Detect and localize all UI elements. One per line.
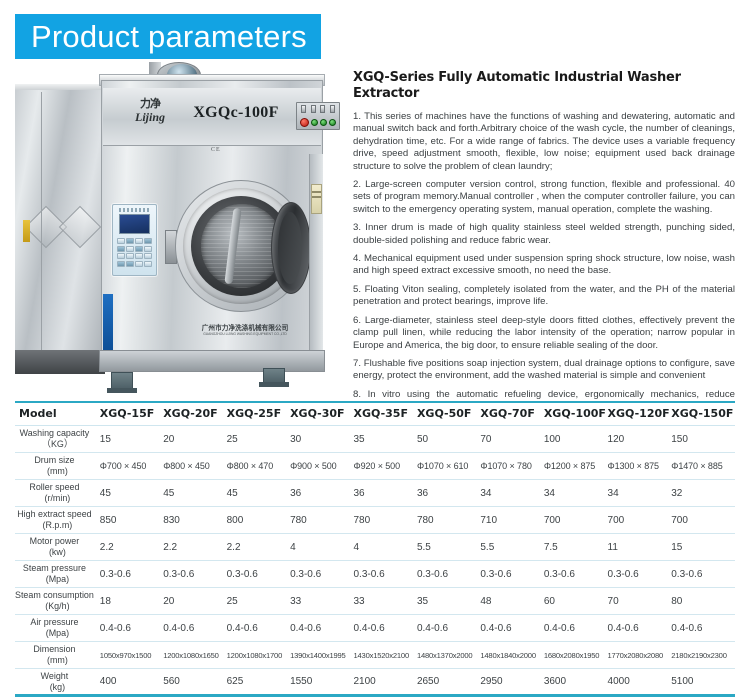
table-cell: 35 — [417, 588, 480, 615]
row-label-unit: (mm) — [18, 466, 97, 477]
control-panel-title-strip — [119, 208, 151, 212]
table-cell: 0.4-0.6 — [163, 615, 226, 642]
table-cell: 5.5 — [480, 534, 543, 561]
table-cell: 780 — [417, 507, 480, 534]
specification-table-container: Model XGQ-15F XGQ-20F XGQ-25F XGQ-30F XG… — [15, 401, 735, 697]
table-cell: 0.4-0.6 — [608, 615, 672, 642]
table-cell: 1680x2080x1950 — [544, 642, 608, 669]
row-label-unit: (R.p.m) — [18, 520, 97, 531]
keypad-key — [135, 246, 143, 252]
row-label: Air pressure(Mpa) — [15, 615, 100, 642]
table-cell: 700 — [544, 507, 608, 534]
table-cell: 0.3-0.6 — [417, 561, 480, 588]
table-header-row: Model XGQ-15F XGQ-20F XGQ-25F XGQ-30F XG… — [15, 402, 735, 426]
table-cell: Φ700 × 450 — [100, 453, 163, 480]
description-paragraph: 4. Mechanical equipment used under suspe… — [353, 253, 735, 278]
table-cell: 50 — [417, 426, 480, 453]
push-button-row — [299, 117, 337, 127]
table-cell: Φ1070 × 610 — [417, 453, 480, 480]
keypad-key — [126, 238, 134, 244]
table-cell: 2.2 — [163, 534, 226, 561]
table-cell: 15 — [100, 426, 163, 453]
row-label-unit: (Mpa) — [18, 628, 97, 639]
company-mark: 广州市力净洗涤机械有限公司 GUANGZHOU LIJING WASHING E… — [185, 324, 305, 337]
column-header-model-variant: XGQ-100F — [544, 402, 608, 426]
green-button-icon — [320, 119, 327, 126]
row-label-name: Dimension — [15, 644, 94, 655]
table-cell: 780 — [290, 507, 353, 534]
brand-name-chinese: 力净 — [127, 98, 173, 110]
column-header-model-variant: XGQ-25F — [227, 402, 290, 426]
product-parameters-banner: Product parameters — [15, 14, 321, 59]
keypad-key — [144, 261, 152, 267]
keypad-key — [135, 238, 143, 244]
control-panel-lcd-screen — [119, 214, 150, 234]
table-cell: 33 — [290, 588, 353, 615]
table-cell: 45 — [100, 480, 163, 507]
table-cell: 0.4-0.6 — [480, 615, 543, 642]
table-cell: 700 — [608, 507, 672, 534]
table-cell: 35 — [354, 426, 417, 453]
column-header-model-variant: XGQ-15F — [100, 402, 163, 426]
toggle-switch-icon — [301, 105, 306, 113]
table-cell: 1200x1080x1650 — [163, 642, 226, 669]
machine-foot — [107, 388, 137, 393]
row-label: Steam pressure(Mpa) — [15, 561, 100, 588]
table-cell: 0.3-0.6 — [163, 561, 226, 588]
table-cell: 32 — [671, 480, 735, 507]
table-cell: 1480x1370x2000 — [417, 642, 480, 669]
keypad-key — [144, 238, 152, 244]
table-row: Steam consumption(Kg/h)18202533333548607… — [15, 588, 735, 615]
product-description-title: XGQ-Series Fully Automatic Industrial Wa… — [353, 70, 735, 102]
table-cell: 700 — [671, 507, 735, 534]
table-cell: 1770x2080x2080 — [608, 642, 672, 669]
table-row: High extract speed(R.p.m)850830800780780… — [15, 507, 735, 534]
brand-name-english: Lijing — [127, 111, 173, 124]
table-cell: Φ800 × 470 — [227, 453, 290, 480]
table-cell: 830 — [163, 507, 226, 534]
row-label: Dimension(mm) — [15, 642, 100, 669]
column-header-model: Model — [15, 402, 100, 426]
table-cell: 560 — [163, 669, 226, 696]
row-label: Motor power(kw) — [15, 534, 100, 561]
brand-logo: 力净 Lijing — [127, 98, 173, 130]
row-label-name: Air pressure — [15, 617, 94, 628]
row-label-unit: (Kg/h) — [18, 601, 97, 612]
table-row: Dimension(mm)1050x970x15001200x1080x1650… — [15, 642, 735, 669]
table-cell: 25 — [227, 588, 290, 615]
table-cell: 0.3-0.6 — [354, 561, 417, 588]
description-paragraph: 2. Large-screen computer version control… — [353, 179, 735, 216]
row-label: Steam consumption(Kg/h) — [15, 588, 100, 615]
table-row: Drum size(mm)Φ700 × 450Φ800 × 450Φ800 × … — [15, 453, 735, 480]
table-cell: 34 — [480, 480, 543, 507]
table-cell: 0.4-0.6 — [417, 615, 480, 642]
table-cell: 2.2 — [227, 534, 290, 561]
column-header-model-variant: XGQ-70F — [480, 402, 543, 426]
blue-sticker — [103, 294, 113, 350]
table-cell: 60 — [544, 588, 608, 615]
table-cell: 80 — [671, 588, 735, 615]
emergency-stop-button-icon — [300, 118, 309, 127]
table-cell: 15 — [671, 534, 735, 561]
row-label-unit: (Mpa) — [18, 574, 97, 585]
row-label-unit: （KG） — [18, 439, 97, 450]
keypad-key — [117, 246, 125, 252]
table-row: Air pressure(Mpa)0.4-0.60.4-0.60.4-0.60.… — [15, 615, 735, 642]
row-label: High extract speed(R.p.m) — [15, 507, 100, 534]
table-cell: 33 — [354, 588, 417, 615]
table-cell: 0.3-0.6 — [480, 561, 543, 588]
keypad-key — [135, 261, 143, 267]
table-cell: 2180x2190x2300 — [671, 642, 735, 669]
row-label-name: Drum size — [15, 455, 94, 466]
toggle-switch-icon — [320, 105, 325, 113]
keypad-key — [135, 253, 143, 259]
table-cell: 70 — [480, 426, 543, 453]
specification-table: Model XGQ-15F XGQ-20F XGQ-25F XGQ-30F XG… — [15, 401, 735, 697]
toggle-switch-icon — [311, 105, 316, 113]
row-label-name: Roller speed — [15, 482, 94, 493]
table-cell: Φ1300 × 875 — [608, 453, 672, 480]
column-header-model-variant: XGQ-50F — [417, 402, 480, 426]
machine-model-badge: XGQc-100F — [193, 104, 279, 122]
table-cell: 48 — [480, 588, 543, 615]
table-cell: 3600 — [544, 669, 608, 696]
toggle-switch-icon — [330, 105, 335, 113]
row-label-name: Weight — [15, 671, 94, 682]
company-name-english: GUANGZHOU LIJING WASHING EQUIPMENT CO.,L… — [190, 332, 300, 337]
table-cell: 7.5 — [544, 534, 608, 561]
table-cell: 70 — [608, 588, 672, 615]
table-cell: 850 — [100, 507, 163, 534]
table-cell: 5100 — [671, 669, 735, 696]
table-cell: 625 — [227, 669, 290, 696]
table-cell: 780 — [354, 507, 417, 534]
column-header-model-variant: XGQ-120F — [608, 402, 672, 426]
table-cell: 0.4-0.6 — [354, 615, 417, 642]
table-cell: Φ920 × 500 — [354, 453, 417, 480]
table-cell: Φ800 × 450 — [163, 453, 226, 480]
column-header-model-variant: XGQ-30F — [290, 402, 353, 426]
table-cell: 5.5 — [417, 534, 480, 561]
table-cell: 36 — [354, 480, 417, 507]
table-cell: 4 — [354, 534, 417, 561]
keypad-key — [126, 246, 134, 252]
table-cell: 4000 — [608, 669, 672, 696]
keypad-key — [144, 246, 152, 252]
green-button-icon — [311, 119, 318, 126]
table-cell: 0.4-0.6 — [227, 615, 290, 642]
table-cell: 34 — [544, 480, 608, 507]
table-cell: 1550 — [290, 669, 353, 696]
description-paragraph: 6. Large-diameter, stainless steel deep-… — [353, 315, 735, 352]
spec-plate-line — [312, 196, 321, 198]
product-photo-industrial-washer: 力净 Lijing XGQc-100F CE — [15, 62, 345, 400]
keypad-key — [144, 253, 152, 259]
keypad-key — [117, 238, 125, 244]
table-cell: 120 — [608, 426, 672, 453]
row-label: Drum size(mm) — [15, 453, 100, 480]
table-cell: 400 — [100, 669, 163, 696]
table-cell: 0.3-0.6 — [227, 561, 290, 588]
table-row: Roller speed(r/min)45454536363634343432 — [15, 480, 735, 507]
toggle-switch-row — [299, 105, 337, 114]
company-name-chinese: 广州市力净洗涤机械有限公司 — [188, 324, 302, 332]
description-paragraph: 7. Flushable five positions soap injecti… — [353, 358, 735, 383]
row-label: Roller speed(r/min) — [15, 480, 100, 507]
spec-plate-line — [312, 191, 321, 193]
table-row: Washing capacity（KG）15202530355070100120… — [15, 426, 735, 453]
keypad-key — [117, 253, 125, 259]
machine-base — [99, 350, 325, 372]
table-cell: Φ1200 × 875 — [544, 453, 608, 480]
table-cell: 1480x1840x2000 — [480, 642, 543, 669]
keypad-key — [117, 261, 125, 267]
table-cell: 0.3-0.6 — [671, 561, 735, 588]
table-cell: 4 — [290, 534, 353, 561]
table-cell: 0.3-0.6 — [608, 561, 672, 588]
page-title: Product parameters — [31, 21, 307, 52]
column-header-model-variant: XGQ-150F — [671, 402, 735, 426]
table-row: Motor power(kw)2.22.22.2445.55.57.51115 — [15, 534, 735, 561]
table-cell: 11 — [608, 534, 672, 561]
table-row: Steam pressure(Mpa)0.3-0.60.3-0.60.3-0.6… — [15, 561, 735, 588]
table-cell: 18 — [100, 588, 163, 615]
row-label-unit: (r/min) — [18, 493, 97, 504]
green-button-icon — [329, 119, 336, 126]
table-cell: 0.3-0.6 — [544, 561, 608, 588]
table-cell: 0.4-0.6 — [290, 615, 353, 642]
description-paragraph: 1. This series of machines have the func… — [353, 111, 735, 173]
row-label: Washing capacity（KG） — [15, 426, 100, 453]
product-overview-section: 力净 Lijing XGQc-100F CE — [15, 62, 735, 400]
table-cell: 45 — [163, 480, 226, 507]
table-cell: 25 — [227, 426, 290, 453]
table-cell: 20 — [163, 588, 226, 615]
spec-plate — [311, 184, 322, 214]
keypad-key — [126, 261, 134, 267]
table-cell: 45 — [227, 480, 290, 507]
table-cell: 1200x1080x1700 — [227, 642, 290, 669]
control-panel-keypad — [117, 238, 152, 272]
column-header-model-variant: XGQ-20F — [163, 402, 226, 426]
table-cell: 2950 — [480, 669, 543, 696]
keypad-key — [126, 253, 134, 259]
table-cell: 0.3-0.6 — [290, 561, 353, 588]
machine-foot — [259, 382, 289, 387]
row-label-unit: (kw) — [18, 547, 97, 558]
description-paragraph: 3. Inner drum is made of high quality st… — [353, 222, 735, 247]
open-door-leaf-inner — [278, 212, 302, 284]
table-cell: 150 — [671, 426, 735, 453]
table-cell: 2100 — [354, 669, 417, 696]
row-label: Weight(kg) — [15, 669, 100, 696]
table-cell: 1050x970x1500 — [100, 642, 163, 669]
table-row: Weight(kg)400560625155021002650295036004… — [15, 669, 735, 696]
table-body: Washing capacity（KG）15202530355070100120… — [15, 426, 735, 696]
rear-cabinet-base — [15, 350, 105, 374]
table-cell: 1430x1520x2100 — [354, 642, 417, 669]
row-label-unit: (kg) — [18, 682, 97, 693]
table-cell: 0.4-0.6 — [671, 615, 735, 642]
column-header-model-variant: XGQ-35F — [354, 402, 417, 426]
table-cell: 100 — [544, 426, 608, 453]
cabinet-seam — [41, 92, 42, 350]
product-description: XGQ-Series Fully Automatic Industrial Wa… — [353, 62, 735, 450]
row-label-name: High extract speed — [15, 509, 94, 520]
table-cell: 36 — [417, 480, 480, 507]
table-cell: 30 — [290, 426, 353, 453]
table-cell: 34 — [608, 480, 672, 507]
table-cell: Φ1470 × 885 — [671, 453, 735, 480]
row-label-name: Steam consumption — [15, 590, 94, 601]
description-paragraph: 5. Floating Viton sealing, completely is… — [353, 284, 735, 309]
table-cell: 2650 — [417, 669, 480, 696]
row-label-name: Motor power — [15, 536, 94, 547]
table-cell: 20 — [163, 426, 226, 453]
table-cell: 0.4-0.6 — [100, 615, 163, 642]
row-label-name: Steam pressure — [15, 563, 94, 574]
table-cell: 2.2 — [100, 534, 163, 561]
table-cell: Φ1070 × 780 — [480, 453, 543, 480]
row-label-name: Washing capacity — [15, 428, 94, 439]
table-cell: 710 — [480, 507, 543, 534]
warning-label — [23, 220, 30, 242]
ce-mark: CE — [211, 147, 221, 153]
table-cell: 0.3-0.6 — [100, 561, 163, 588]
table-cell: 1390x1400x1995 — [290, 642, 353, 669]
table-cell: 0.4-0.6 — [544, 615, 608, 642]
table-cell: 36 — [290, 480, 353, 507]
row-label-unit: (mm) — [18, 655, 97, 666]
table-cell: 800 — [227, 507, 290, 534]
table-cell: Φ900 × 500 — [290, 453, 353, 480]
